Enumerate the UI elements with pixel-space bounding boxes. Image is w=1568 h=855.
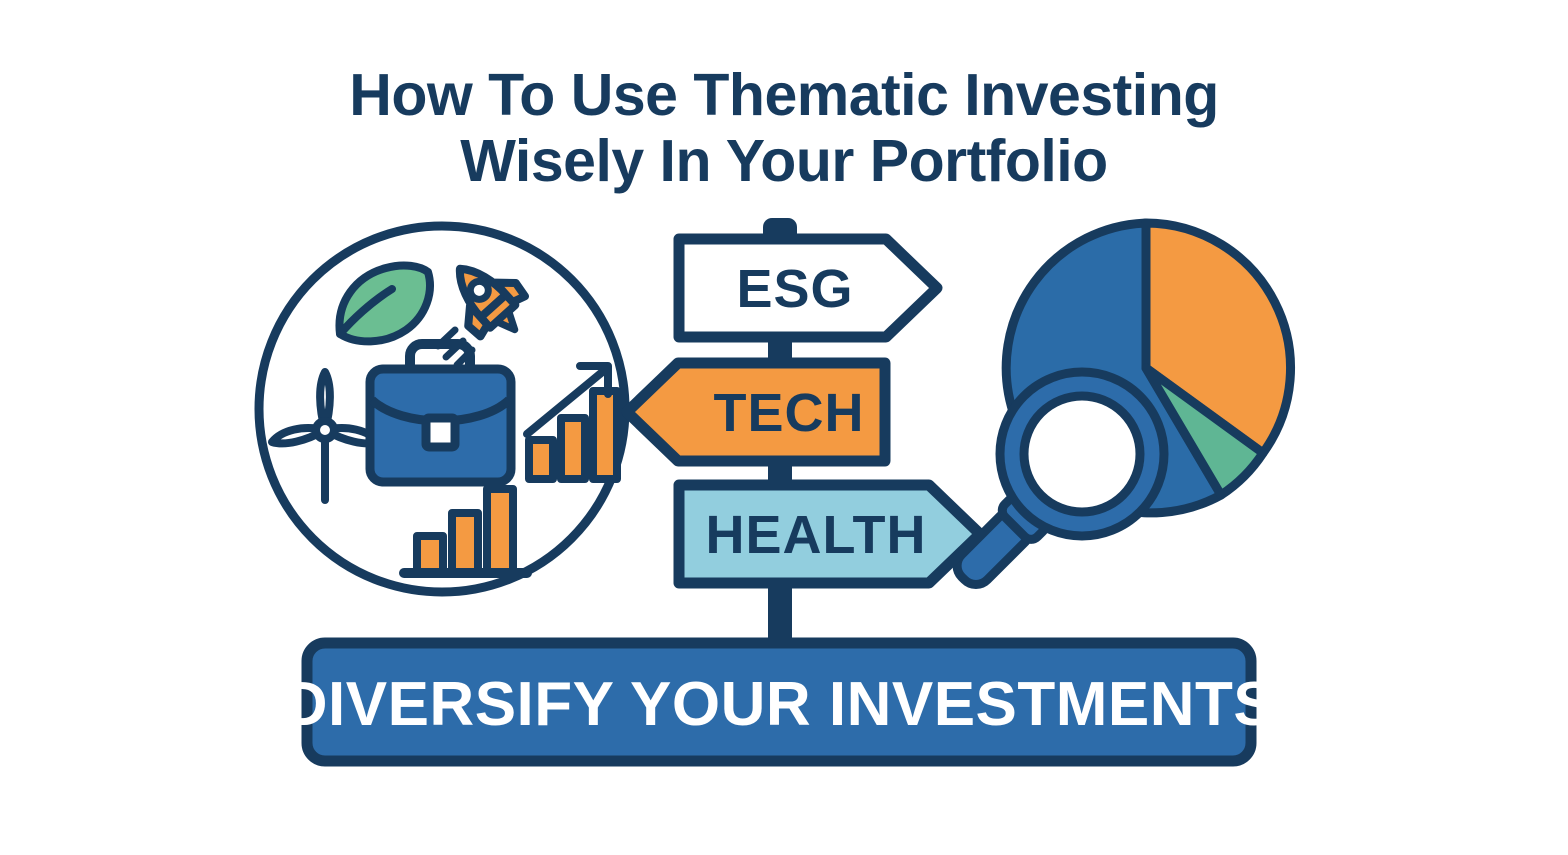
sign-tech[interactable]: TECH (627, 363, 885, 461)
sign-health-label: HEALTH (706, 505, 927, 565)
diversify-banner[interactable]: DIVERSIFY YOUR INVESTMENTS (283, 643, 1276, 761)
diversify-banner-label: DIVERSIFY YOUR INVESTMENTS (283, 670, 1276, 739)
sign-esg-label: ESG (736, 259, 853, 319)
infographic-canvas: How To Use Thematic Investing Wisely In … (0, 0, 1568, 855)
sign-esg[interactable]: ESG (679, 239, 937, 337)
theme-circle (259, 226, 625, 592)
sign-tech-label: TECH (714, 383, 865, 443)
sign-health[interactable]: HEALTH (679, 485, 980, 583)
magnifier-icon (947, 372, 1164, 595)
briefcase-icon (370, 344, 511, 482)
illustration: ESG TECH HEALTH DIVERSIFY YOUR INVESTMEN… (0, 0, 1568, 855)
